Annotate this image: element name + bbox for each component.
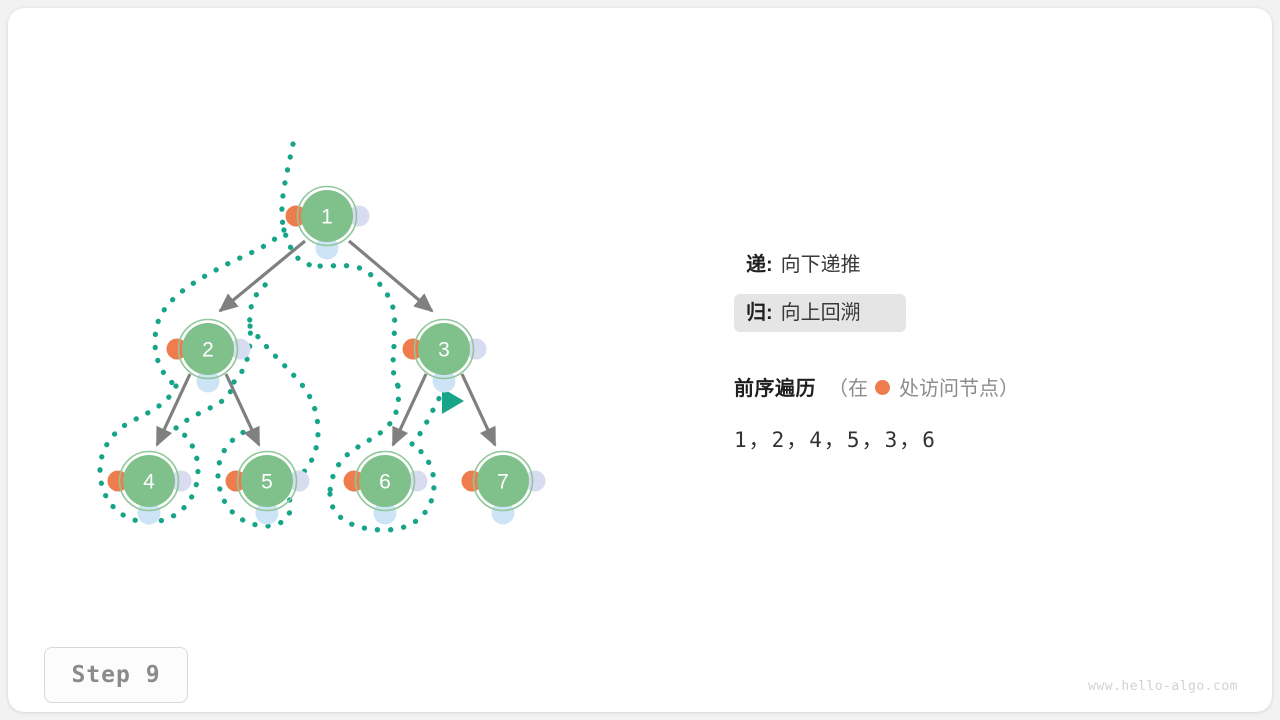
node-value-label: 7: [497, 471, 509, 494]
legend: 递: 向下递推 归: 向上回溯: [734, 246, 1194, 342]
node-value-label: 2: [202, 339, 214, 362]
legend-recurse-key: 递:: [746, 246, 773, 284]
legend-item-recurse: 递: 向下递推: [734, 246, 1194, 284]
legend-backtrack-key: 归:: [746, 294, 773, 332]
traversal-block: 前序遍历 （在 处访问节点） 1，2，4，5，3，6: [734, 366, 1234, 454]
traversal-paren-open: （在: [828, 372, 868, 401]
edge-n3-n7: [462, 374, 495, 445]
recursion-path-segment-root-right: [320, 266, 398, 386]
tree-nodes: 1234567: [108, 187, 546, 525]
traversal-sequence: 1，2，4，5，3，6: [734, 424, 1234, 454]
node-value-label: 6: [379, 471, 391, 494]
watermark: www.hello-algo.com: [1088, 679, 1238, 694]
legend-item-backtrack: 归: 向上回溯: [734, 294, 906, 332]
node-value-label: 1: [321, 206, 333, 229]
node-value-label: 4: [143, 471, 155, 494]
tree-node-3[interactable]: 3: [403, 320, 487, 393]
page-root: 1234567 递: 向下递推 归: 向上回溯 前序遍历 （在 处访问节点） 1…: [0, 0, 1280, 720]
step-badge: Step 9: [44, 647, 188, 703]
traversal-paren-close: 处访问节点）: [899, 372, 1019, 401]
diagram-card: 1234567 递: 向下递推 归: 向上回溯 前序遍历 （在 处访问节点） 1…: [8, 8, 1272, 712]
legend-backtrack-value: 向上回溯: [781, 294, 861, 332]
recursion-path-segment-n6-back: [412, 392, 444, 444]
visit-marker-dot-icon: [875, 380, 890, 395]
traversal-title: 前序遍历: [734, 372, 816, 401]
tree-node-4[interactable]: 4: [108, 452, 192, 525]
legend-recurse-value: 向下递推: [781, 246, 861, 284]
node-value-label: 5: [261, 471, 273, 494]
tree-node-7[interactable]: 7: [462, 452, 546, 525]
binary-tree-diagram: 1234567: [8, 8, 1272, 712]
tree-node-5[interactable]: 5: [226, 452, 310, 525]
edge-n1-n3: [349, 241, 432, 311]
traversal-heading: 前序遍历 （在 处访问节点）: [734, 366, 1234, 406]
node-value-label: 3: [438, 339, 450, 362]
edge-n1-n2: [220, 241, 305, 311]
tree-node-6[interactable]: 6: [344, 452, 428, 525]
tree-node-2[interactable]: 2: [167, 320, 251, 393]
